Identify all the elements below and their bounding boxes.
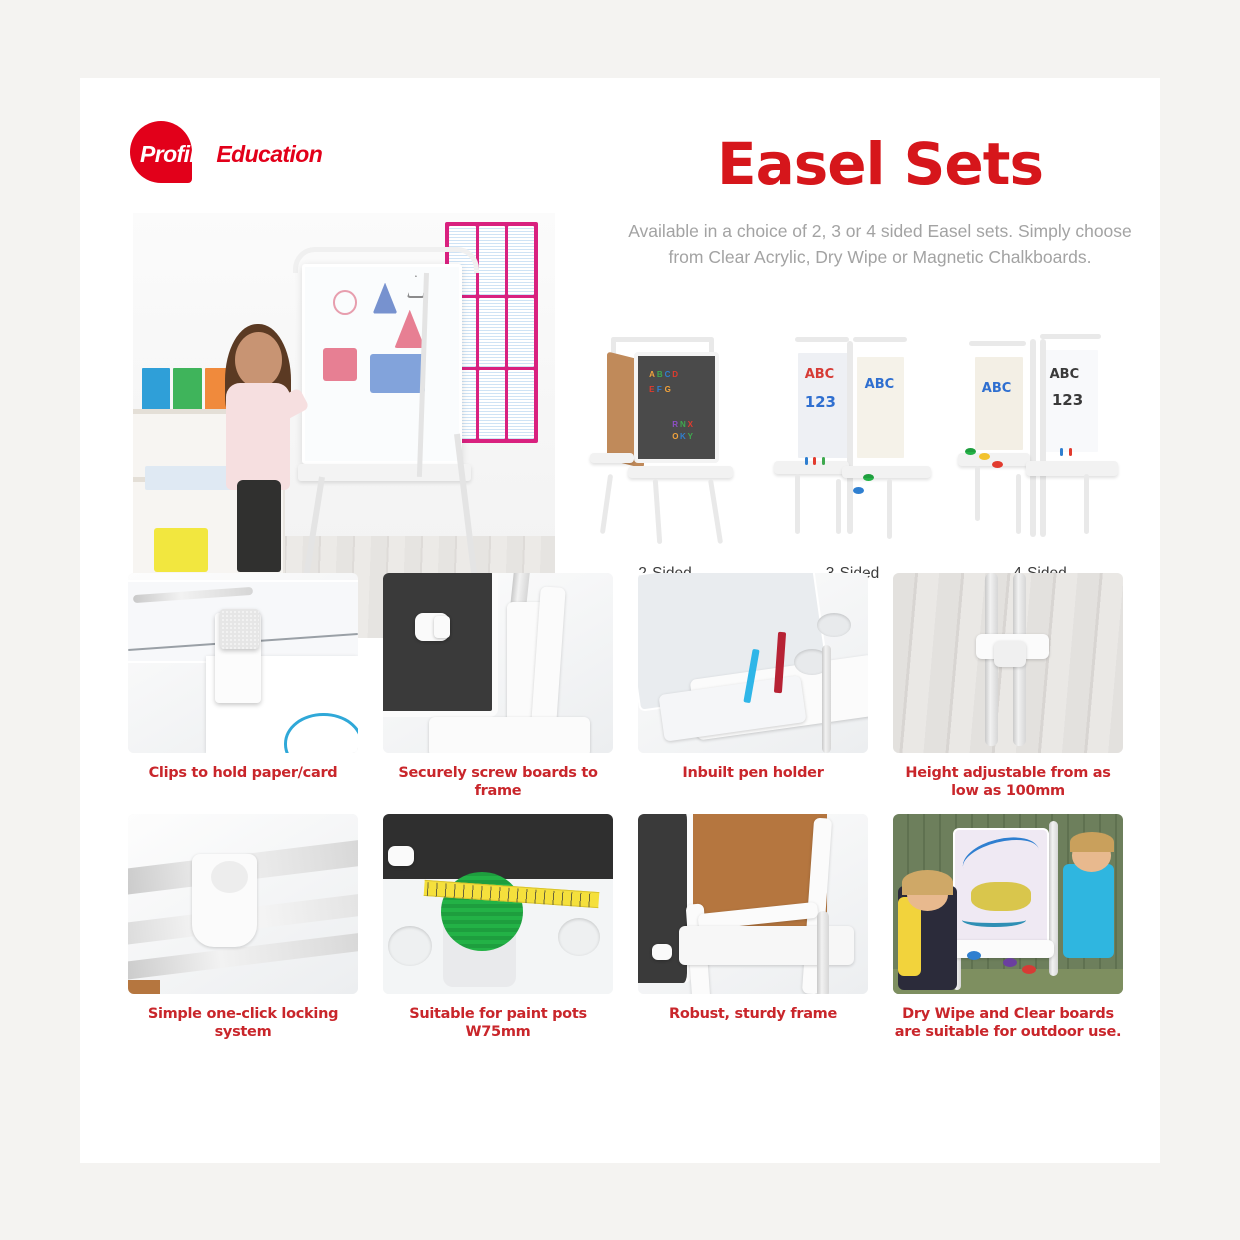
feature-pen-holder-caption: Inbuilt pen holder	[638, 764, 868, 804]
feature-sturdy-frame: Robust, sturdy frame	[638, 814, 868, 1045]
feature-pen-holder-image	[638, 573, 868, 753]
feature-row-1: Clips to hold paper/card Securely screw …	[128, 573, 1118, 804]
variant-2-sided[interactable]: A B C D E F G R N X O K Y	[580, 283, 750, 543]
feature-locking: Simple one-click locking system	[128, 814, 358, 1045]
logo-word-education: Education	[216, 141, 322, 167]
variant-3-sided-image: ABC 123 ABC	[768, 328, 938, 543]
variant-2-sided-image: A B C D E F G R N X O K Y	[580, 328, 750, 543]
feature-screw-image	[383, 573, 613, 753]
logo-word-profile: Profile	[140, 141, 207, 167]
brand-logo[interactable]: ProfileEducation	[130, 121, 390, 183]
feature-height-adjust-image	[893, 573, 1123, 753]
logo-text: ProfileEducation	[140, 141, 322, 168]
feature-screw-caption: Securely screw boards to frame	[383, 764, 613, 804]
feature-grid: Clips to hold paper/card Securely screw …	[128, 573, 1118, 1055]
variant-3-sided[interactable]: ABC 123 ABC 3-Sided	[768, 283, 938, 543]
feature-clips-caption: Clips to hold paper/card	[128, 764, 358, 804]
feature-outdoor: Dry Wipe and Clear boards are suitable f…	[893, 814, 1123, 1045]
feature-height-adjust: Height adjustable from as low as 100mm	[893, 573, 1123, 804]
feature-pen-holder: Inbuilt pen holder	[638, 573, 868, 804]
variant-row: A B C D E F G R N X O K Y	[580, 283, 1125, 543]
feature-height-adjust-caption: Height adjustable from as low as 100mm	[893, 764, 1123, 804]
feature-row-2: Simple one-click locking system Suitable…	[128, 814, 1118, 1045]
page-title: Easel Sets	[640, 130, 1120, 198]
feature-outdoor-caption: Dry Wipe and Clear boards are suitable f…	[893, 1005, 1123, 1045]
page-subtitle: Available in a choice of 2, 3 or 4 sided…	[620, 218, 1140, 270]
feature-clips: Clips to hold paper/card	[128, 573, 358, 804]
feature-paint-pots-caption: Suitable for paint pots W75mm	[383, 1005, 613, 1045]
hero-easel-board	[302, 264, 462, 464]
variant-4-sided-image: ABC ABC 123	[955, 328, 1125, 543]
feature-locking-image	[128, 814, 358, 994]
feature-locking-caption: Simple one-click locking system	[128, 1005, 358, 1045]
variant-4-sided[interactable]: ABC ABC 123 4-Sided	[955, 283, 1125, 543]
feature-screw: Securely screw boards to frame	[383, 573, 613, 804]
feature-paint-pots-image	[383, 814, 613, 994]
product-sheet: ProfileEducation Easel Sets Available in…	[80, 78, 1160, 1163]
feature-clips-image	[128, 573, 358, 753]
feature-outdoor-image	[893, 814, 1123, 994]
feature-sturdy-frame-image	[638, 814, 868, 994]
storage-bin	[154, 528, 208, 572]
feature-sturdy-frame-caption: Robust, sturdy frame	[638, 1005, 868, 1045]
hero-child	[222, 332, 298, 587]
feature-paint-pots: Suitable for paint pots W75mm	[383, 814, 613, 1045]
